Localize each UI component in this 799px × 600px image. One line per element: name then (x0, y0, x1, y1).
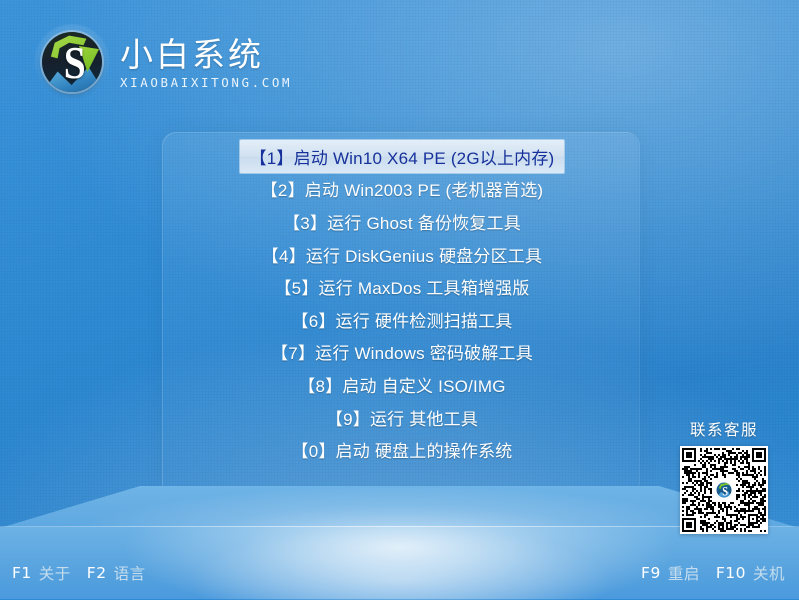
boot-menu-item-1[interactable]: 【1】启动 Win10 X64 PE (2G以上内存) (240, 140, 565, 173)
boot-menu-item-5[interactable]: 【5】运行 MaxDos 工具箱增强版 (264, 270, 539, 303)
boot-menu-item-label: 【7】运行 Windows 密码破解工具 (271, 339, 533, 364)
logo-recycle-icon: S (34, 24, 110, 100)
hotkey-label: 关于 (39, 562, 71, 584)
qr-logo-letter: S (722, 483, 728, 498)
logo-letter-s: S (64, 41, 86, 85)
boot-menu-row: 【4】运行 DiskGenius 硬盘分区工具 (200, 238, 604, 271)
boot-menu-row: 【0】启动 硬盘上的操作系统 (200, 433, 604, 466)
boot-menu-item-label: 【1】启动 Win10 X64 PE (2G以上内存) (250, 144, 555, 169)
boot-menu-item-4[interactable]: 【4】运行 DiskGenius 硬盘分区工具 (252, 238, 552, 271)
hotkey-label: 重启 (668, 562, 700, 584)
boot-menu-item-label: 【2】启动 Win2003 PE (老机器首选) (261, 176, 544, 201)
hotkeys-left: F1关于F2语言 (12, 547, 162, 599)
brand-name-en: XIAOBAIXITONG.COM (120, 75, 292, 91)
boot-menu-item-label: 【3】运行 Ghost 备份恢复工具 (283, 209, 521, 234)
boot-menu-item-label: 【0】启动 硬盘上的操作系统 (292, 437, 513, 462)
boot-menu-item-label: 【4】运行 DiskGenius 硬盘分区工具 (262, 242, 542, 267)
boot-menu-item-label: 【5】运行 MaxDos 工具箱增强版 (274, 274, 529, 299)
qr-logo-disc: S (717, 483, 732, 498)
boot-menu-row: 【6】运行 硬件检测扫描工具 (200, 303, 604, 336)
boot-menu-row: 【2】启动 Win2003 PE (老机器首选) (200, 173, 604, 206)
hotkey-f2[interactable]: F2语言 (87, 562, 146, 584)
brand-name-cn: 小白系统 (120, 36, 292, 74)
boot-menu-item-6[interactable]: 【6】运行 硬件检测扫描工具 (282, 303, 523, 336)
boot-menu-item-8[interactable]: 【8】启动 自定义 ISO/IMG (288, 368, 515, 401)
hotkey-label: 关机 (753, 562, 785, 584)
customer-service-title: 联系客服 (690, 418, 758, 440)
hotkey-key: F2 (87, 564, 107, 582)
brand-logo: S 小白系统 XIAOBAIXITONG.COM (34, 24, 292, 100)
hotkey-f9[interactable]: F9重启 (641, 562, 700, 584)
boot-menu-item-label: 【8】启动 自定义 ISO/IMG (298, 372, 505, 397)
boot-menu-item-7[interactable]: 【7】运行 Windows 密码破解工具 (261, 336, 543, 369)
logo-disc: S (42, 32, 102, 92)
boot-menu-row: 【9】运行 其他工具 (200, 401, 604, 434)
boot-menu-item-9[interactable]: 【9】运行 其他工具 (316, 401, 488, 434)
boot-menu-row: 【7】运行 Windows 密码破解工具 (200, 336, 604, 369)
hotkeys-right: F9重启F10关机 (641, 547, 785, 599)
qr-center-logo-icon: S (715, 481, 734, 500)
brand-text: 小白系统 XIAOBAIXITONG.COM (120, 34, 292, 91)
boot-menu-item-0[interactable]: 【0】启动 硬盘上的操作系统 (282, 433, 523, 466)
hotkey-label: 语言 (114, 562, 146, 584)
hotkey-key: F10 (716, 564, 746, 582)
hotkey-f1[interactable]: F1关于 (12, 562, 71, 584)
boot-menu-row: 【8】启动 自定义 ISO/IMG (200, 368, 604, 401)
boot-menu-item-label: 【9】运行 其他工具 (326, 405, 478, 430)
customer-service-qr-code[interactable]: S (680, 446, 768, 534)
boot-menu-list[interactable]: 【1】启动 Win10 X64 PE (2G以上内存)【2】启动 Win2003… (200, 140, 604, 466)
customer-service-block: 联系客服 S (668, 418, 780, 534)
boot-menu-row: 【5】运行 MaxDos 工具箱增强版 (200, 270, 604, 303)
hotkey-key: F9 (641, 564, 661, 582)
hotkey-f10[interactable]: F10关机 (716, 562, 785, 584)
boot-menu-row: 【3】运行 Ghost 备份恢复工具 (200, 205, 604, 238)
boot-menu-item-label: 【6】运行 硬件检测扫描工具 (292, 307, 513, 332)
boot-menu-row: 【1】启动 Win10 X64 PE (2G以上内存) (200, 140, 604, 173)
hotkey-key: F1 (12, 564, 32, 582)
boot-menu-item-2[interactable]: 【2】启动 Win2003 PE (老机器首选) (251, 173, 554, 206)
boot-menu-item-3[interactable]: 【3】运行 Ghost 备份恢复工具 (273, 205, 531, 238)
